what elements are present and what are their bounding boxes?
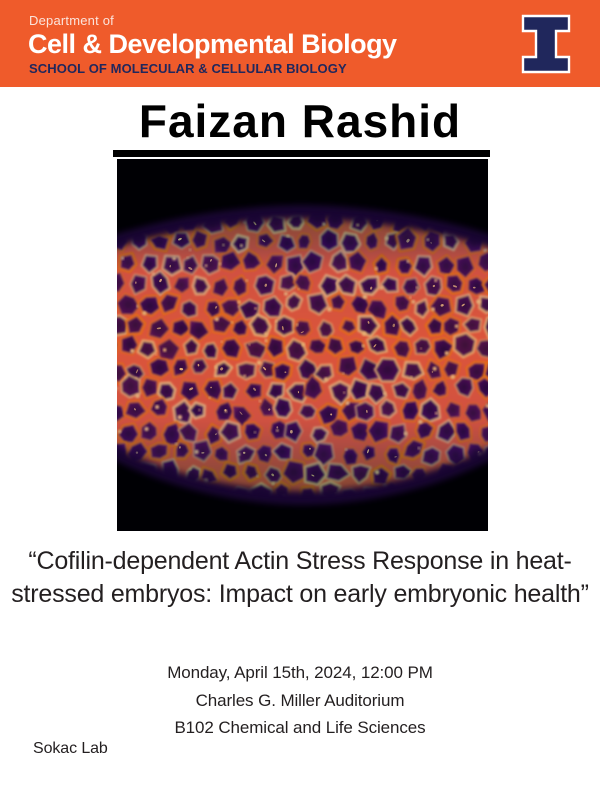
talk-title: “Cofilin-dependent Actin Stress Response… [8,545,592,611]
event-details: Monday, April 15th, 2024, 12:00 PM Charl… [0,659,600,742]
department-prefix-label: Department of [29,14,114,27]
school-name-subtitle: SCHOOL OF MOLECULAR & CELLULAR BIOLOGY [29,62,347,75]
event-building: B102 Chemical and Life Sciences [0,714,600,742]
event-venue: Charles G. Miller Auditorium [0,687,600,715]
speaker-name-heading: Faizan Rashid [0,97,600,145]
header-band: Department of Cell & Developmental Biolo… [0,0,600,87]
name-underline-rule [113,150,490,157]
event-datetime: Monday, April 15th, 2024, 12:00 PM [0,659,600,687]
lab-credit-label: Sokac Lab [33,740,108,758]
embryo-microscopy-figure [117,159,488,531]
department-name-title: Cell & Developmental Biology [28,30,397,58]
embryo-microscopy-canvas [117,159,488,531]
illinois-block-i-logo [517,10,575,78]
